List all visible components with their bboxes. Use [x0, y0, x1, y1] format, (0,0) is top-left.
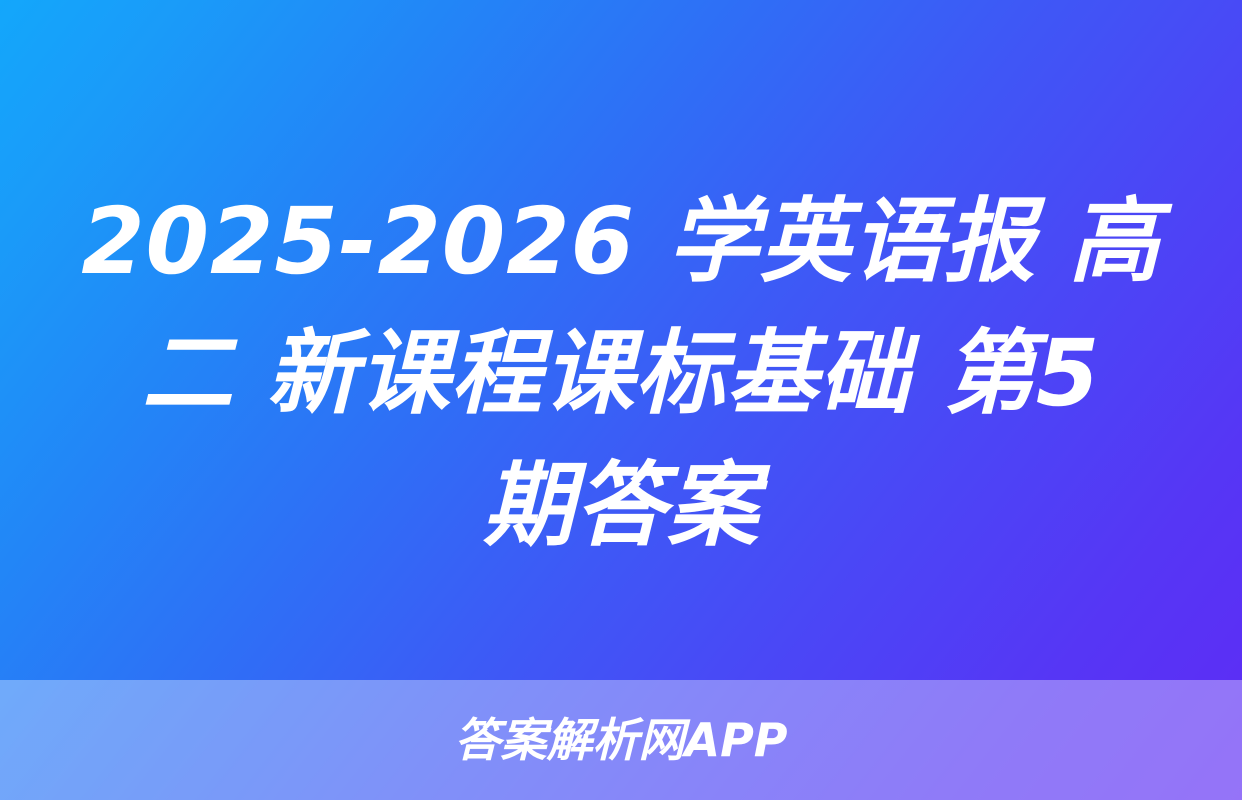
page-title: 2025-2026 学英语报 高 二 新课程课标基础 第5 期答案 — [0, 176, 1242, 572]
app-watermark-label: 答案解析网APP — [454, 717, 787, 763]
answer-poster-card: 2025-2026 学英语报 高 二 新课程课标基础 第5 期答案 答案解析网A… — [0, 0, 1242, 800]
title-line-3: 期答案 — [40, 440, 1202, 572]
title-line-1: 2025-2026 学英语报 高 — [40, 176, 1202, 308]
title-line-2: 二 新课程课标基础 第5 — [40, 308, 1202, 440]
footer-watermark-band: 答案解析网APP — [0, 680, 1242, 800]
